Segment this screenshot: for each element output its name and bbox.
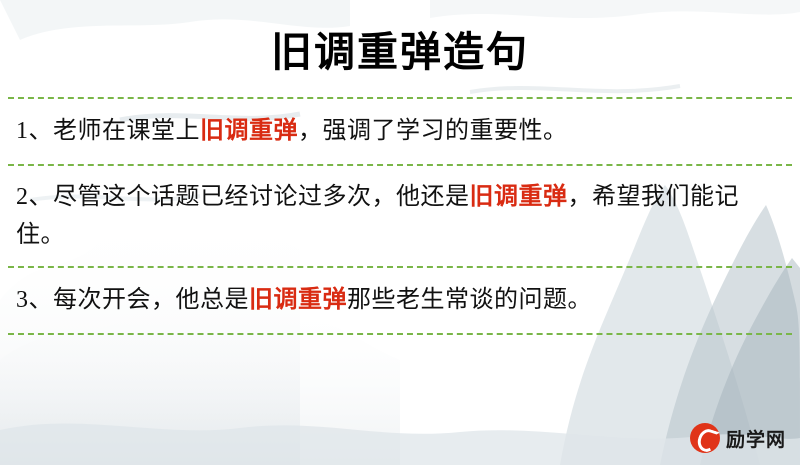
sentence-text-after: 那些老生常谈的问题。 <box>347 287 592 313</box>
watermark-label: 励学网 <box>726 425 786 452</box>
page-root: 旧调重弹造句 1、老师在课堂上旧调重弹，强调了学习的重要性。 2、尽管这个话题已… <box>0 0 800 465</box>
sentence-index: 3、 <box>16 287 53 313</box>
sentence-text-before: 尽管这个话题已经讨论过多次，他还是 <box>53 184 470 210</box>
title-spacer <box>0 77 800 97</box>
divider-bottom <box>8 333 792 335</box>
highlight-phrase: 旧调重弹 <box>470 184 568 210</box>
list-item: 2、尽管这个话题已经讨论过多次，他还是旧调重弹，希望我们能记住。 <box>0 166 800 265</box>
highlight-phrase: 旧调重弹 <box>249 287 347 313</box>
highlight-phrase: 旧调重弹 <box>200 118 298 144</box>
sentence-text-after: ，强调了学习的重要性。 <box>298 118 568 144</box>
sentence-text-before: 老师在课堂上 <box>53 118 200 144</box>
sentence-index: 1、 <box>16 118 53 144</box>
sentence-index: 2、 <box>16 184 53 210</box>
list-item: 3、每次开会，他总是旧调重弹那些老生常谈的问题。 <box>0 268 800 333</box>
sentence-text-before: 每次开会，他总是 <box>53 287 249 313</box>
list-item: 1、老师在课堂上旧调重弹，强调了学习的重要性。 <box>0 99 800 164</box>
swirl-logo-icon <box>690 423 720 453</box>
watermark: 励学网 <box>690 423 786 453</box>
page-title: 旧调重弹造句 <box>0 0 800 77</box>
sentence-list: 1、老师在课堂上旧调重弹，强调了学习的重要性。 2、尽管这个话题已经讨论过多次，… <box>0 99 800 335</box>
